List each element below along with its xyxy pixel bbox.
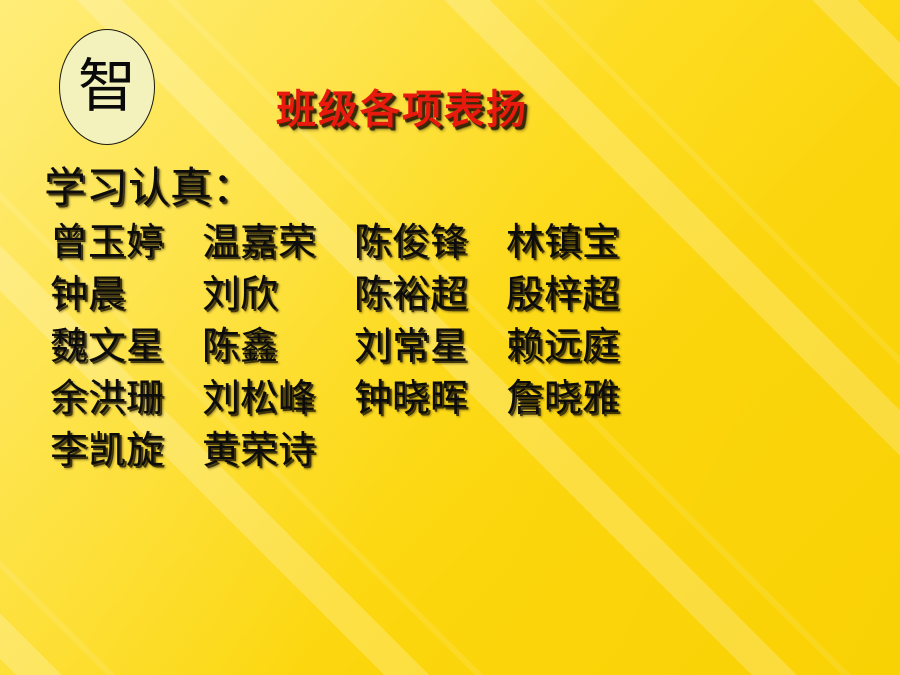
section-subheading: 学习认真： [44,160,844,216]
name-row: 魏文星 陈鑫 刘常星 赖远庭 [44,320,844,372]
name-row: 曾玉婷 温嘉荣 陈俊锋 林镇宝 [44,216,844,268]
name-row: 钟晨 刘欣 陈裕超 殷梓超 [44,268,844,320]
badge-character: 智 [78,57,136,115]
name-row: 李凯旋 黄荣诗 [44,424,844,476]
wisdom-circle-badge: 智 [59,29,155,145]
presentation-slide: 智 班级各项表扬 学习认真： 曾玉婷 温嘉荣 陈俊锋 林镇宝 钟晨 刘欣 陈裕超… [0,0,900,675]
slide-title: 班级各项表扬 [276,90,528,130]
name-row: 余洪珊 刘松峰 钟晓晖 詹晓雅 [44,372,844,424]
slide-body: 学习认真： 曾玉婷 温嘉荣 陈俊锋 林镇宝 钟晨 刘欣 陈裕超 殷梓超 魏文星 … [44,160,844,476]
